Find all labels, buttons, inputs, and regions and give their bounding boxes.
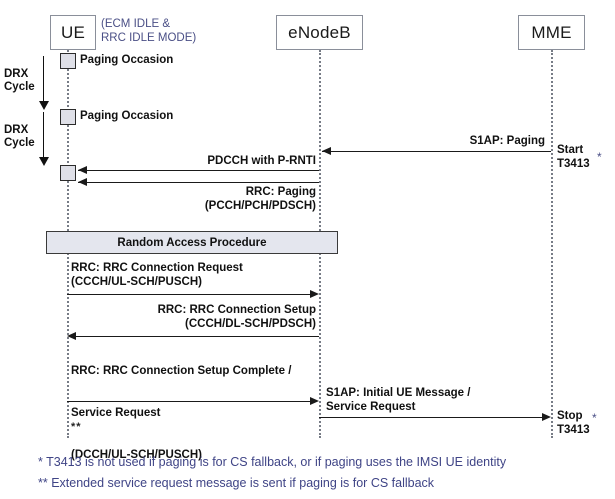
drx-cycle-arrow-2 (43, 112, 44, 157)
message-arrowhead-s1ap-paging (322, 147, 331, 155)
paging-occasion-square-3 (60, 165, 76, 181)
node-label-enodeb: eNodeB (288, 23, 351, 43)
footnote-2: ** Extended service request message is s… (38, 475, 434, 491)
sequence-diagram-canvas: UE eNodeB MME (ECM IDLE & RRC IDLE MODE)… (0, 0, 615, 499)
node-label-ue: UE (61, 23, 85, 43)
message-arrowhead-rrc-conn-request (310, 290, 319, 298)
node-box-ue: UE (50, 15, 96, 50)
message-line-rrc-conn-request (67, 294, 310, 295)
message-label-line-2: Service Request (71, 407, 161, 419)
message-line-pdcch-p-rnti (78, 170, 319, 171)
message-line-s1ap-initial-ue-message (319, 417, 542, 418)
drx-cycle-label-2: DRX Cycle (4, 124, 35, 150)
drx-cycle-arrow-1 (43, 56, 44, 101)
timer-stop-t3413: Stop T3413 (557, 409, 590, 437)
message-arrowhead-rrc-paging (78, 178, 87, 186)
paging-occasion-label-1: Paging Occasion (80, 54, 173, 66)
message-line-rrc-conn-setup (76, 336, 319, 337)
paging-occasion-square-1 (60, 53, 76, 69)
message-line-rrc-paging (78, 182, 319, 183)
message-label-marker: ** (71, 421, 82, 433)
timer-start-t3413: Start T3413 (557, 143, 590, 171)
node-box-enodeb: eNodeB (276, 15, 363, 50)
paging-occasion-label-2: Paging Occasion (80, 110, 173, 122)
drx-cycle-label-1: DRX Cycle (4, 68, 35, 94)
node-label-mme: MME (531, 23, 571, 43)
paging-occasion-square-2 (60, 109, 76, 125)
message-label-line-1: RRC: RRC Connection Setup Complete / (71, 364, 333, 378)
message-label-pdcch-p-rnti: PDCCH with P-RNTI (170, 154, 316, 168)
message-label-rrc-conn-setup: RRC: RRC Connection Setup (CCCH/DL-SCH/P… (96, 303, 316, 331)
node-box-mme: MME (518, 15, 585, 50)
message-label-rrc-paging: RRC: Paging (PCCH/PCH/PDSCH) (150, 185, 316, 213)
lifeline-mme (551, 50, 553, 438)
ue-mode-note: (ECM IDLE & RRC IDLE MODE) (101, 17, 231, 45)
footnote-1: * T3413 is not used if paging is for CS … (38, 454, 506, 470)
message-arrowhead-rrc-conn-setup (67, 332, 76, 340)
message-line-rrc-conn-setup-complete (67, 401, 310, 402)
random-access-procedure-label: Random Access Procedure (117, 237, 266, 249)
random-access-procedure-box: Random Access Procedure (46, 231, 338, 254)
message-label-line-2-wrapper: Service Request ** (71, 392, 333, 434)
message-arrowhead-pdcch-p-rnti (78, 166, 87, 174)
message-arrowhead-s1ap-initial-ue-message (542, 413, 551, 421)
message-label-s1ap-initial-ue-message: S1AP: Initial UE Message / Service Reque… (326, 386, 541, 414)
message-arrowhead-rrc-conn-setup-complete (310, 397, 319, 405)
timer-start-t3413-marker: * (597, 150, 602, 164)
message-label-s1ap-paging: S1AP: Paging (400, 134, 545, 148)
message-line-s1ap-paging (322, 151, 551, 152)
timer-stop-t3413-marker: * (592, 411, 597, 425)
message-label-rrc-conn-request: RRC: RRC Connection Request (CCCH/UL-SCH… (71, 261, 331, 289)
